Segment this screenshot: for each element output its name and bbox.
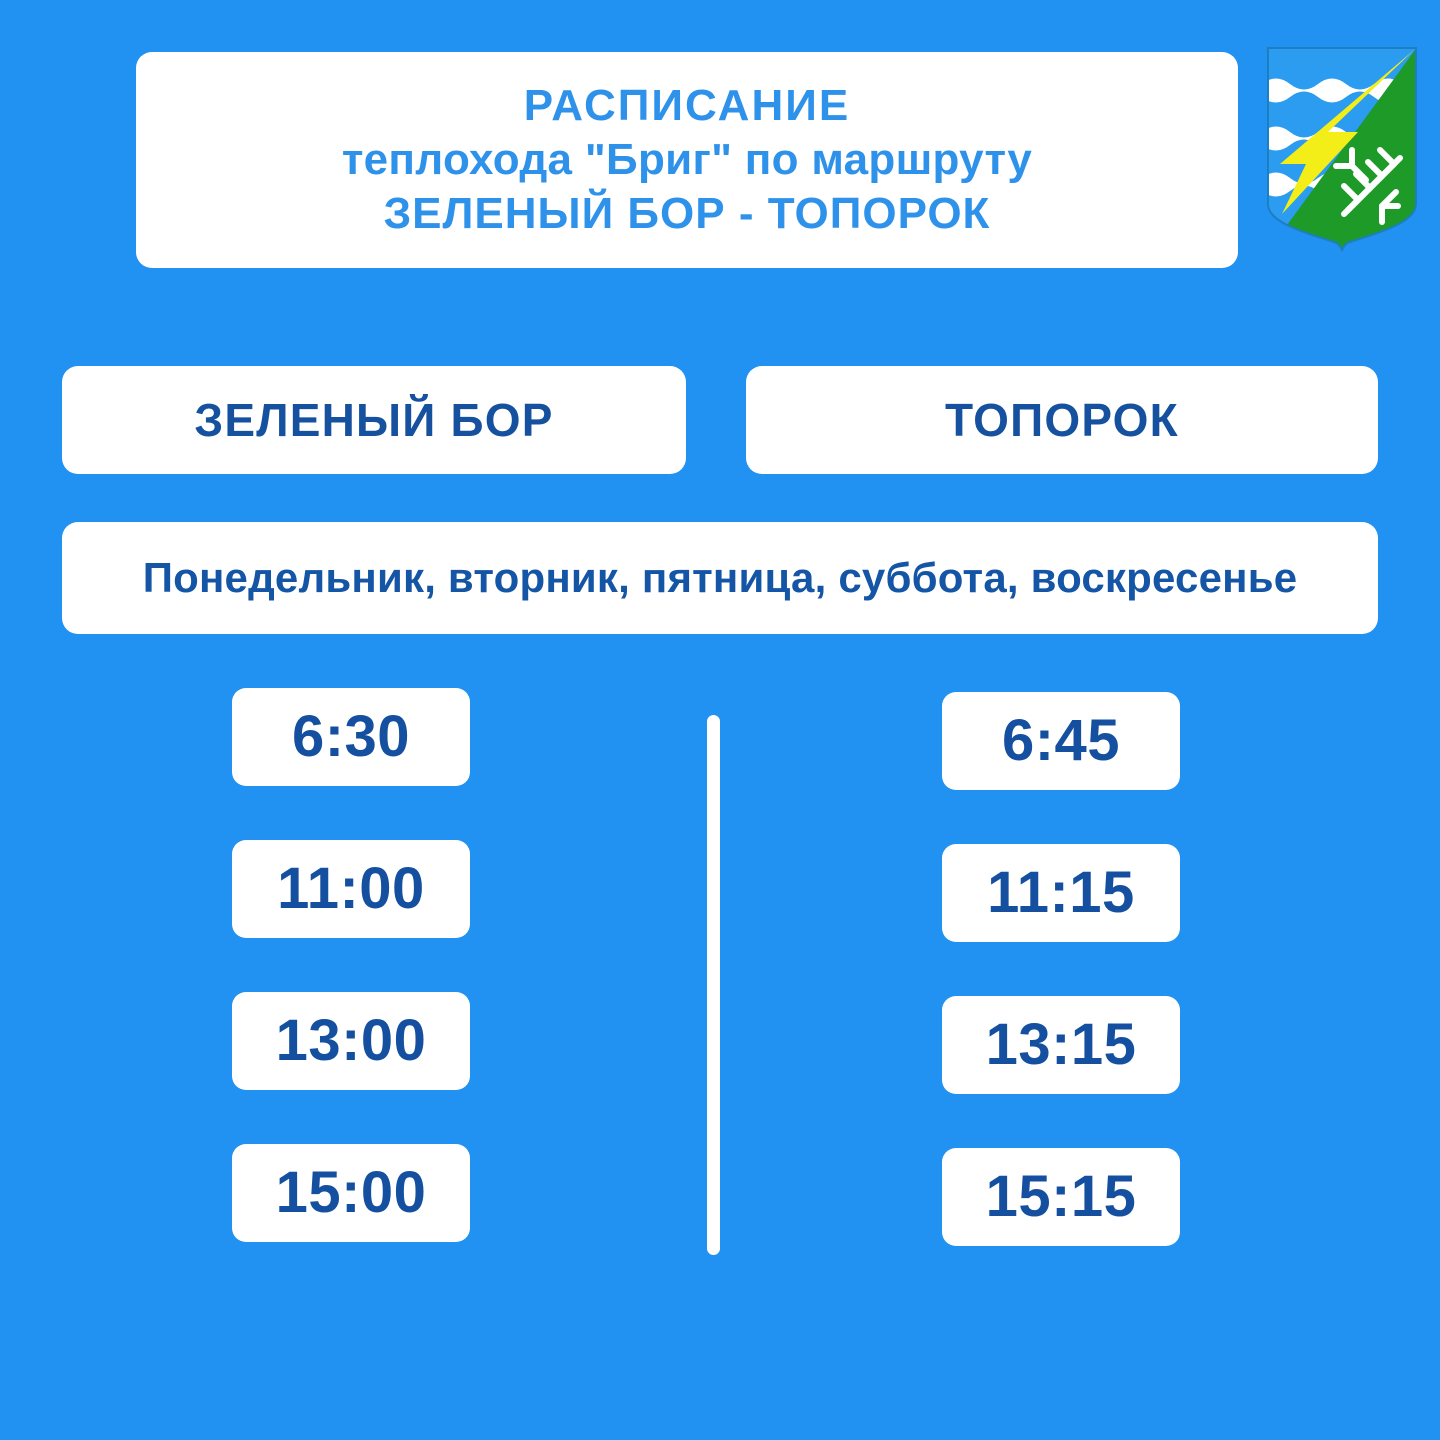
time-chip[interactable]: 11:15 (942, 844, 1180, 942)
arrival-times-column: 6:45 11:15 13:15 15:15 (942, 692, 1180, 1246)
time-value: 15:15 (986, 1168, 1137, 1226)
time-chip[interactable]: 13:00 (232, 992, 470, 1090)
station-label-arrival: ТОПОРОК (945, 393, 1179, 447)
time-value: 11:00 (277, 860, 425, 918)
page-title-line-1: РАСПИСАНИЕ (524, 79, 850, 133)
time-chip[interactable]: 6:30 (232, 688, 470, 786)
time-value: 15:00 (276, 1164, 427, 1222)
time-chip[interactable]: 15:00 (232, 1144, 470, 1242)
title-card: РАСПИСАНИЕ теплохода "Бриг" по маршруту … (136, 52, 1238, 268)
time-chip[interactable]: 6:45 (942, 692, 1180, 790)
page-title-line-2: теплохода "Бриг" по маршруту (342, 133, 1032, 187)
station-label-departure: ЗЕЛЕНЫЙ БОР (194, 393, 553, 447)
coat-of-arms-icon (1266, 46, 1418, 262)
days-of-week-bar: Понедельник, вторник, пятница, суббота, … (62, 522, 1378, 634)
time-value: 6:30 (292, 708, 410, 766)
time-value: 6:45 (1002, 712, 1120, 770)
station-button-departure[interactable]: ЗЕЛЕНЫЙ БОР (62, 366, 686, 474)
header: РАСПИСАНИЕ теплохода "Бриг" по маршруту … (0, 0, 1440, 300)
time-value: 11:15 (987, 864, 1135, 922)
station-buttons: ЗЕЛЕНЫЙ БОР ТОПОРОК (0, 366, 1440, 478)
station-button-arrival[interactable]: ТОПОРОК (746, 366, 1378, 474)
schedule-grid: 6:30 11:00 13:00 15:00 6:45 11:15 13:15 … (0, 688, 1440, 1268)
time-chip[interactable]: 11:00 (232, 840, 470, 938)
departure-times-column: 6:30 11:00 13:00 15:00 (232, 688, 470, 1242)
time-chip[interactable]: 13:15 (942, 996, 1180, 1094)
days-of-week-label: Понедельник, вторник, пятница, суббота, … (143, 554, 1298, 602)
time-value: 13:00 (276, 1012, 427, 1070)
column-divider (707, 715, 720, 1255)
time-chip[interactable]: 15:15 (942, 1148, 1180, 1246)
time-value: 13:15 (986, 1016, 1137, 1074)
page-title-line-3: ЗЕЛЕНЫЙ БОР - ТОПОРОК (384, 187, 991, 241)
